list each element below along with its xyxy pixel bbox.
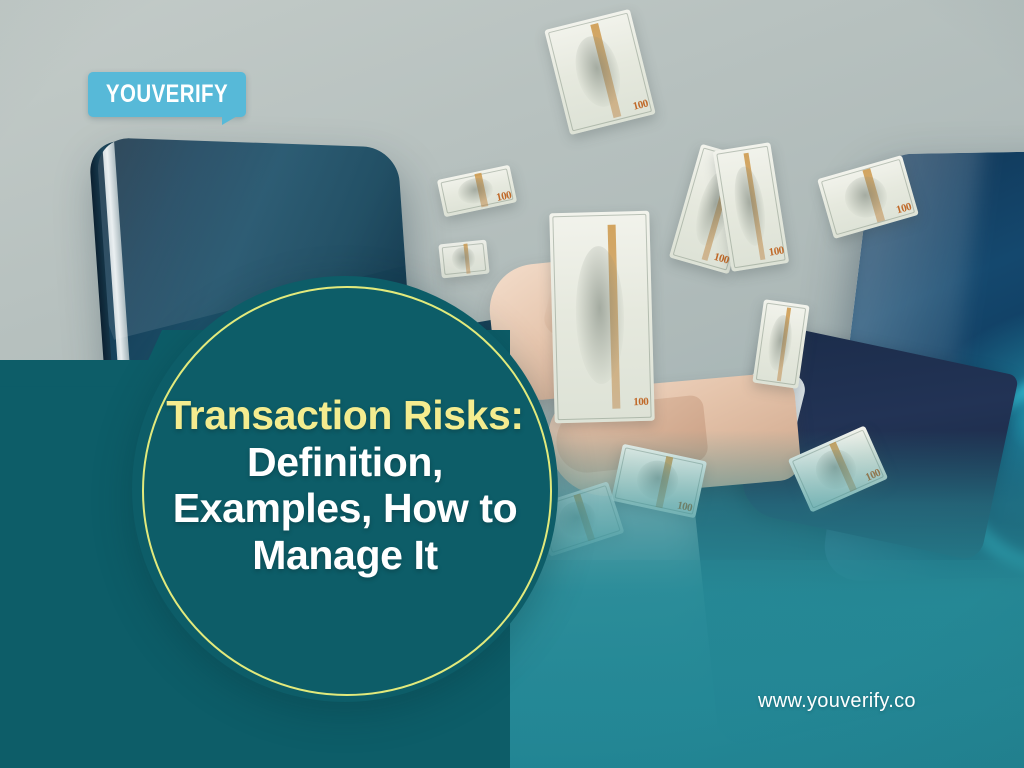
banknote-denomination: 100 — [633, 396, 648, 408]
banknote-stripe — [463, 244, 470, 274]
blog-cover-banner: 100 100 100 100 100 100 100 100 — [0, 0, 1024, 768]
banknote-denomination: 100 — [495, 189, 512, 204]
banknote-denomination: 100 — [712, 251, 730, 267]
banknote-denomination: 100 — [632, 97, 649, 112]
page-title: Transaction Risks: Definition, Examples,… — [148, 392, 542, 579]
banknote-stripe — [475, 173, 488, 207]
banknote-denomination: 100 — [768, 244, 785, 258]
page-title-rest: Definition, Examples, How to Manage It — [173, 439, 517, 578]
banknote-stripe — [744, 153, 766, 260]
banknote-stripe — [590, 24, 621, 118]
banknote-stripe — [777, 308, 791, 382]
banknote-stripe — [862, 168, 885, 223]
held-banknote: 100 — [549, 211, 654, 424]
brand-logo-text: YOUVERIFY — [102, 72, 232, 117]
page-title-accent: Transaction Risks: — [166, 392, 523, 438]
banknote — [438, 240, 489, 279]
banknote-stripe — [608, 224, 621, 409]
site-url[interactable]: www.youverify.co — [758, 690, 916, 713]
banknote-denomination: 100 — [895, 201, 913, 217]
